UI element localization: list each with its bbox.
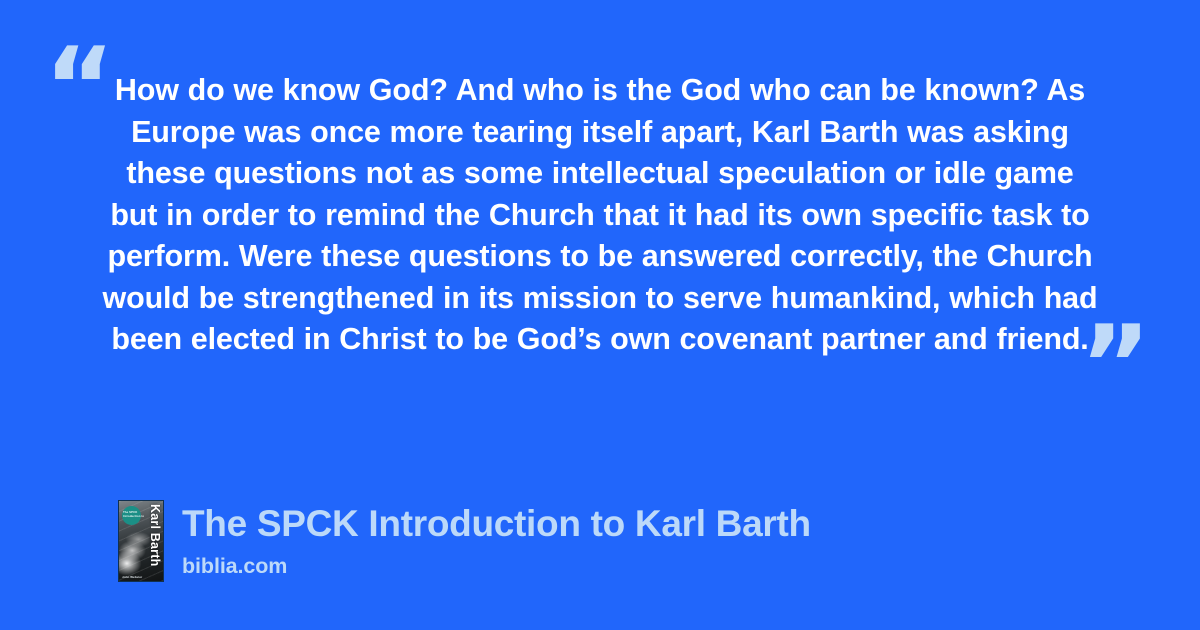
footer-text-block: The SPCK Introduction to Karl Barth bibl… bbox=[182, 500, 811, 579]
book-title: The SPCK Introduction to Karl Barth bbox=[182, 502, 811, 546]
quote-text: How do we know God? And who is the God w… bbox=[100, 70, 1100, 361]
site-name[interactable]: biblia.com bbox=[182, 553, 811, 579]
closing-quote-icon: ” bbox=[1080, 312, 1149, 420]
book-cover-publisher-label: John Webster bbox=[122, 575, 154, 579]
book-cover-author-label: Karl Barth bbox=[148, 504, 162, 580]
book-cover-thumbnail[interactable]: The SPCK Introduction to Karl Barth John… bbox=[118, 500, 164, 582]
footer: The SPCK Introduction to Karl Barth John… bbox=[118, 500, 811, 582]
quote-card: “ How do we know God? And who is the God… bbox=[0, 0, 1200, 630]
